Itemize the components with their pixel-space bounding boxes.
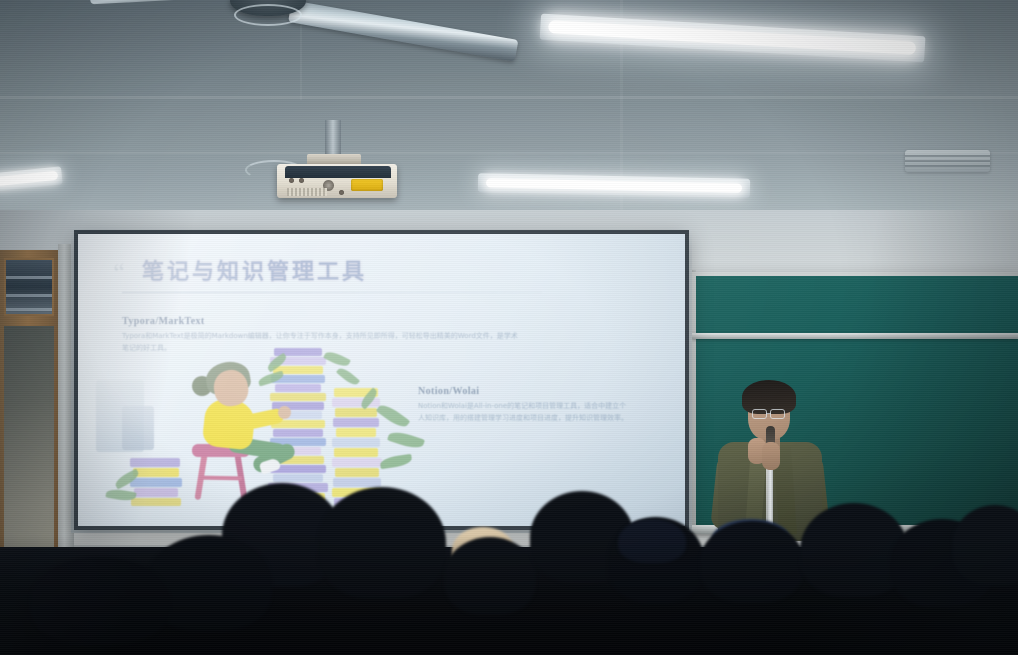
projector-label <box>351 179 383 191</box>
classroom-scene: 好 好 学 习 天 天 向 上 “ 笔记与知识管理工具 Typora/MarkT… <box>0 0 1018 655</box>
ceiling-projector <box>277 156 397 198</box>
projector-body <box>277 164 397 198</box>
fluorescent-light <box>0 164 63 193</box>
ceiling <box>0 0 1018 232</box>
fluorescent-light <box>539 11 925 68</box>
ceiling-beam <box>0 96 1018 99</box>
fan-ring <box>234 4 302 26</box>
fan-blade <box>288 0 518 62</box>
wall-shading <box>0 210 1018 655</box>
ceiling-fan <box>120 0 500 57</box>
fluorescent-light <box>478 171 750 201</box>
ceiling-beam <box>0 152 1018 154</box>
fan-blade <box>90 0 250 4</box>
ceiling-vent <box>905 150 990 172</box>
